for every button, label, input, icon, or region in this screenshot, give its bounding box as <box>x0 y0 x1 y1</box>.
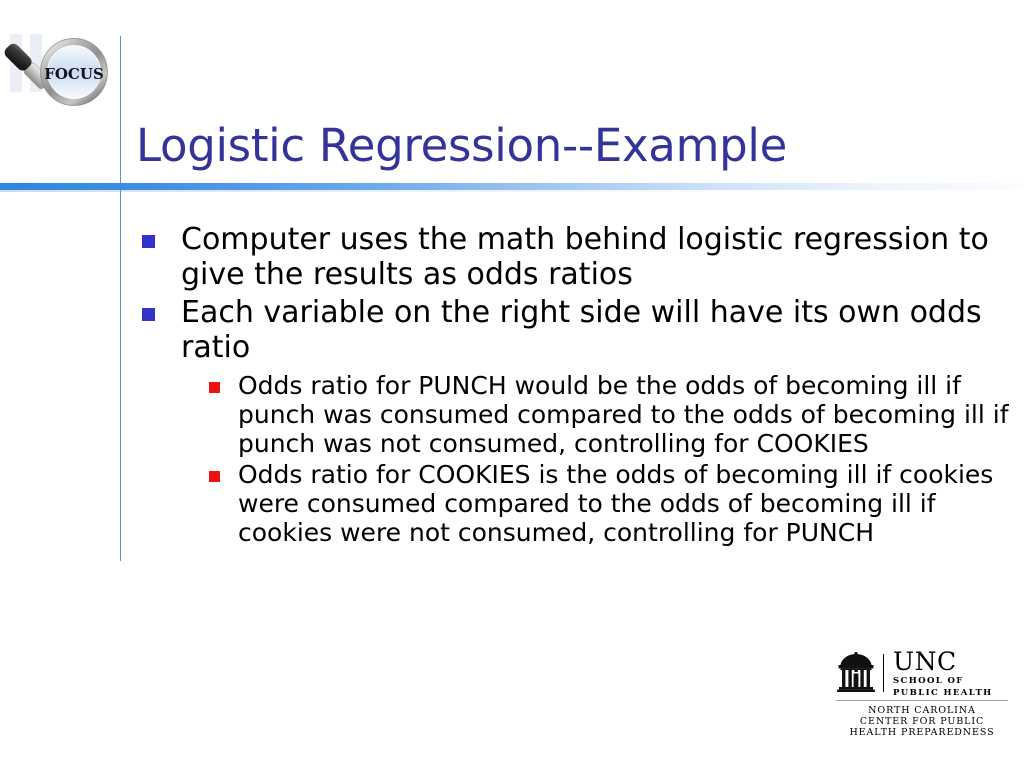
bullet-list-level1: Computer uses the math behind logistic r… <box>136 222 1016 547</box>
unc-wordmark-block: UNC SCHOOL OF PUBLIC HEALTH <box>893 649 993 698</box>
old-well-rotunda-icon <box>836 652 876 694</box>
bullet-text: Computer uses the math behind logistic r… <box>181 222 1016 292</box>
blue-square-bullet-icon <box>142 235 155 248</box>
title-divider <box>0 183 1024 192</box>
unc-logo-separator <box>836 700 1008 701</box>
unc-center-line3: HEALTH PREPAREDNESS <box>836 727 1008 738</box>
unc-wordmark: UNC <box>893 649 993 674</box>
sub-bullet-text: Odds ratio for COOKIES is the odds of be… <box>238 460 1016 547</box>
unc-center-line1: NORTH CAROLINA <box>836 705 1008 716</box>
bullet-text: Each variable on the right side will hav… <box>181 295 1016 365</box>
bullet-list-level2: Odds ratio for PUNCH would be the odds o… <box>201 371 1016 547</box>
page-title: Logistic Regression--Example <box>136 118 996 180</box>
sub-bullet-item: Odds ratio for COOKIES is the odds of be… <box>201 460 1016 547</box>
bullet-item: Computer uses the math behind logistic r… <box>136 222 1016 292</box>
red-square-bullet-icon <box>209 382 220 393</box>
sub-bullet-text: Odds ratio for PUNCH would be the odds o… <box>238 371 1016 458</box>
unc-center-name: NORTH CAROLINA CENTER FOR PUBLIC HEALTH … <box>836 705 1008 738</box>
focus-logo-label: FOCUS <box>44 65 104 83</box>
blue-square-bullet-icon <box>142 308 155 321</box>
title-divider-bar <box>0 183 1024 190</box>
slide-body: Computer uses the math behind logistic r… <box>136 222 1016 550</box>
unc-logo-top: UNC SCHOOL OF PUBLIC HEALTH <box>836 650 1008 696</box>
unc-school-line2: PUBLIC HEALTH <box>893 688 993 698</box>
focus-logo: FOCUS <box>4 28 122 140</box>
sub-bullet-container: Odds ratio for PUNCH would be the odds o… <box>201 371 1016 547</box>
unc-logo: UNC SCHOOL OF PUBLIC HEALTH NORTH CAROLI… <box>836 650 1008 736</box>
vertical-accent-rule <box>120 36 121 561</box>
bullet-item: Each variable on the right side will hav… <box>136 295 1016 547</box>
title-divider-shadow <box>0 190 1024 192</box>
unc-school-line1: SCHOOL OF <box>893 676 993 686</box>
unc-center-line2: CENTER FOR PUBLIC <box>836 716 1008 727</box>
unc-logo-divider <box>883 654 884 692</box>
sub-bullet-item: Odds ratio for PUNCH would be the odds o… <box>201 371 1016 458</box>
red-square-bullet-icon <box>209 471 220 482</box>
